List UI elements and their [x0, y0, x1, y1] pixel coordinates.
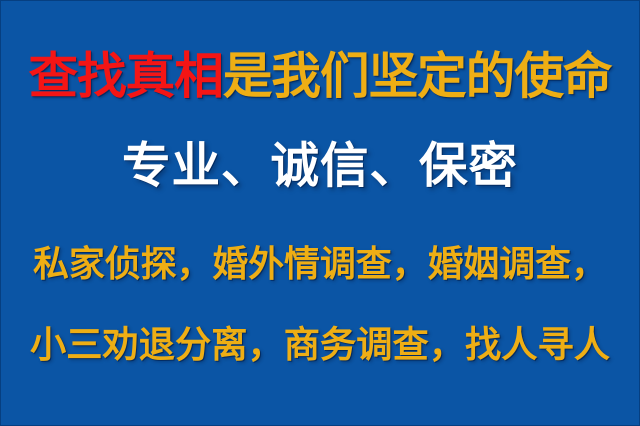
headline-highlight: 查找真相: [29, 52, 223, 102]
headline: 查找真相是我们坚定的使命: [0, 52, 640, 114]
values-tagline: 专业、诚信、保密: [0, 142, 640, 200]
services-line-2: 小三劝退分离，商务调查，找人寻人: [0, 327, 640, 379]
services-line-1: 私家侦探，婚外情调查，婚姻调查，: [0, 247, 640, 299]
advertisement-banner: 查找真相是我们坚定的使命 专业、诚信、保密 私家侦探，婚外情调查，婚姻调查， 小…: [0, 0, 640, 426]
headline-rest: 是我们坚定的使命: [223, 52, 612, 102]
